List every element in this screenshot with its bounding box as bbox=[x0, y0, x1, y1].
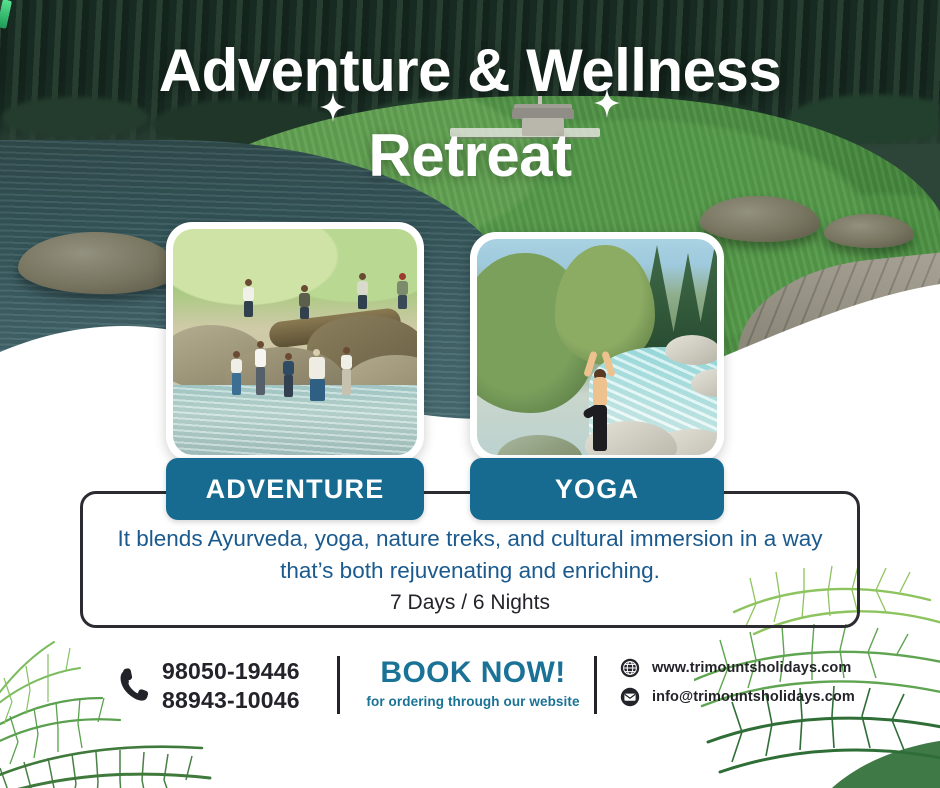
photo-card-adventure[interactable] bbox=[166, 222, 424, 462]
phone-number-list: 98050-19446 88943-10046 bbox=[162, 658, 300, 714]
yoga-photo bbox=[477, 239, 717, 455]
trekker-torso bbox=[243, 287, 254, 301]
trekker-legs bbox=[284, 375, 293, 397]
trekker-legs bbox=[398, 295, 407, 309]
label-chip-adventure[interactable]: ADVENTURE bbox=[166, 458, 424, 520]
website-url: www.trimountsholidays.com bbox=[652, 660, 851, 676]
trekker-torso bbox=[283, 361, 294, 375]
trekker-head bbox=[343, 347, 350, 354]
email-row[interactable]: info@trimountsholidays.com bbox=[620, 687, 855, 707]
trekker-torso bbox=[255, 349, 266, 367]
photo-card-yoga[interactable] bbox=[470, 232, 724, 462]
adventure-photo bbox=[173, 229, 417, 455]
trekker-torso bbox=[231, 359, 242, 373]
trekker-legs bbox=[300, 307, 309, 319]
trekker-head bbox=[257, 341, 264, 348]
retreat-duration: 7 Days / 6 Nights bbox=[390, 591, 550, 615]
trekker-head bbox=[233, 351, 240, 358]
trekker-head bbox=[399, 273, 406, 280]
leafy-tree bbox=[555, 245, 655, 365]
river-rock bbox=[665, 335, 717, 365]
trekker-head bbox=[245, 279, 252, 286]
phone-block: 98050-19446 88943-10046 bbox=[118, 658, 300, 714]
yogi-torso bbox=[593, 377, 607, 407]
phone-number-primary[interactable]: 98050-19446 bbox=[162, 658, 300, 685]
trekker-legs bbox=[342, 369, 351, 395]
stream-water bbox=[173, 385, 417, 455]
trekker-torso bbox=[357, 281, 368, 295]
chip-label: YOGA bbox=[555, 474, 639, 505]
phone-handset-icon bbox=[118, 668, 148, 704]
yoga-figure bbox=[581, 349, 621, 455]
trekker-legs bbox=[244, 301, 253, 317]
retreat-description: It blends Ayurveda, yoga, nature treks, … bbox=[105, 523, 835, 587]
trekker-head bbox=[313, 349, 320, 356]
book-now-heading: BOOK NOW! bbox=[362, 656, 584, 690]
phone-number-secondary[interactable]: 88943-10046 bbox=[162, 687, 300, 714]
trekker-head bbox=[359, 273, 366, 280]
footer-divider bbox=[594, 656, 597, 714]
book-now-subtext: for ordering through our website bbox=[362, 694, 584, 709]
title-line-2: Retreat bbox=[0, 113, 940, 198]
footer-bar: 98050-19446 88943-10046 BOOK NOW! for or… bbox=[0, 648, 940, 748]
footer-divider bbox=[337, 656, 340, 714]
trekker-head bbox=[301, 285, 308, 292]
trekker-legs bbox=[232, 373, 241, 395]
chip-label: ADVENTURE bbox=[206, 474, 385, 505]
trekker-legs bbox=[310, 379, 325, 401]
email-address: info@trimountsholidays.com bbox=[652, 689, 855, 705]
book-now-block[interactable]: BOOK NOW! for ordering through our websi… bbox=[362, 656, 584, 709]
poster-canvas: Adventure & Wellness Retreat bbox=[0, 0, 940, 788]
trekker-torso bbox=[397, 281, 408, 295]
trekker-legs bbox=[358, 295, 367, 309]
river-rock bbox=[497, 435, 583, 455]
trekker-head bbox=[285, 353, 292, 360]
trekker-torso bbox=[299, 293, 310, 307]
label-chip-yoga[interactable]: YOGA bbox=[470, 458, 724, 520]
title-line-1: Adventure & Wellness bbox=[0, 28, 940, 113]
envelope-icon bbox=[620, 687, 640, 707]
trekker-legs bbox=[256, 367, 265, 395]
poster-title: Adventure & Wellness Retreat bbox=[0, 28, 940, 198]
trekker-torso bbox=[309, 357, 325, 379]
contact-block: www.trimountsholidays.com info@trimounts… bbox=[620, 658, 855, 707]
website-row[interactable]: www.trimountsholidays.com bbox=[620, 658, 855, 678]
trekker-torso bbox=[341, 355, 352, 369]
globe-icon bbox=[620, 658, 640, 678]
